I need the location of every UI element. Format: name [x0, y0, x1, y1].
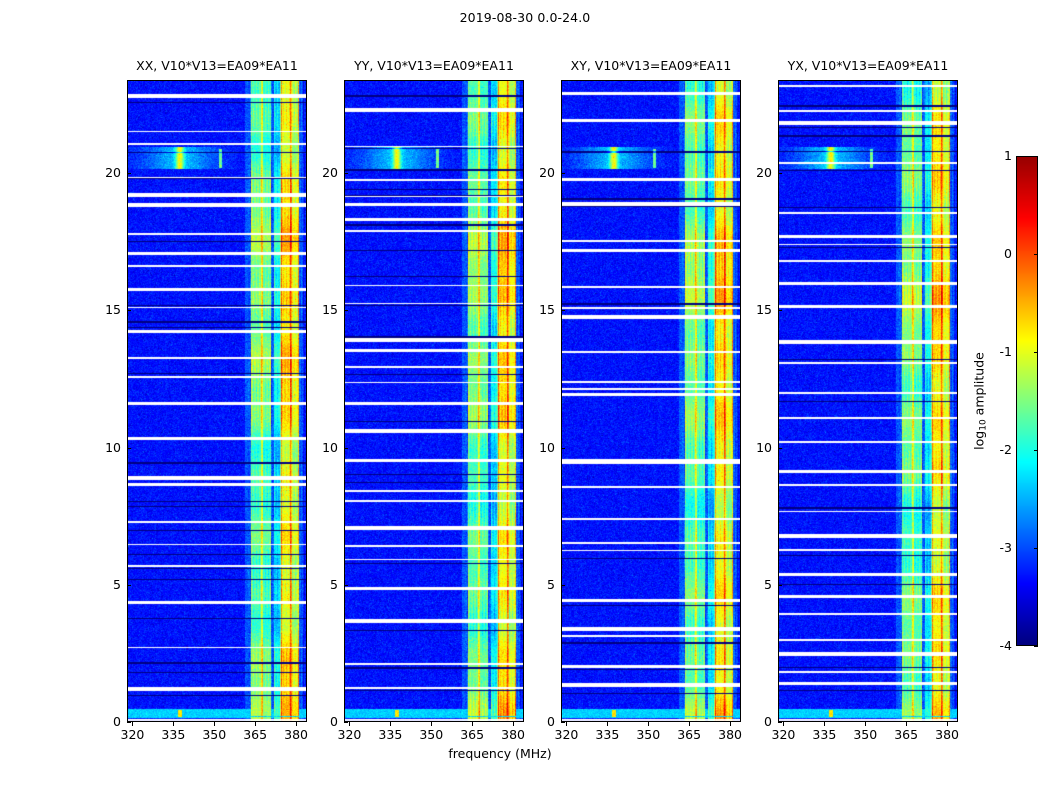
- colorbar-tick-mark: [1034, 450, 1038, 451]
- x-tick-mark: [648, 722, 649, 726]
- y-tick-mark: [561, 585, 565, 586]
- x-tick-mark: [783, 722, 784, 726]
- y-tick-label-10: 10: [87, 441, 121, 455]
- x-axis-label: frequency (MHz): [0, 746, 1000, 761]
- colorbar-tick-label-neg3: -3: [982, 541, 1012, 555]
- x-tick-label-335: 335: [584, 727, 630, 742]
- y-tick-mark: [561, 448, 565, 449]
- x-tick-mark: [607, 722, 608, 726]
- y-tick-label-5: 5: [87, 578, 121, 592]
- x-tick-mark: [824, 722, 825, 726]
- x-tick-label-380: 380: [707, 727, 753, 742]
- colorbar-tick-mark: [1034, 352, 1038, 353]
- y-tick-label-0: 0: [304, 715, 338, 729]
- y-tick-mark: [344, 722, 348, 723]
- x-tick-mark: [689, 722, 690, 726]
- y-tick-label-5: 5: [304, 578, 338, 592]
- waterfall-panel-yx[interactable]: [778, 80, 958, 722]
- x-tick-mark: [566, 722, 567, 726]
- y-tick-label-15: 15: [304, 303, 338, 317]
- x-tick-mark: [132, 722, 133, 726]
- colorbar-tick-mark: [1034, 254, 1038, 255]
- y-tick-mark: [344, 448, 348, 449]
- x-tick-mark: [173, 722, 174, 726]
- x-tick-label-320: 320: [109, 727, 155, 742]
- x-tick-mark: [349, 722, 350, 726]
- x-tick-label-380: 380: [490, 727, 536, 742]
- x-tick-label-335: 335: [150, 727, 196, 742]
- y-tick-mark: [561, 310, 565, 311]
- y-tick-mark: [127, 585, 131, 586]
- colorbar-label: log10 amplitude: [972, 352, 989, 450]
- y-tick-label-20: 20: [87, 166, 121, 180]
- y-tick-label-0: 0: [738, 715, 772, 729]
- x-tick-label-320: 320: [326, 727, 372, 742]
- x-tick-label-320: 320: [760, 727, 806, 742]
- x-tick-mark: [906, 722, 907, 726]
- y-tick-mark: [127, 310, 131, 311]
- colorbar-tick-mark: [1034, 646, 1038, 647]
- colorbar-tick-mark: [1034, 156, 1038, 157]
- x-tick-mark: [947, 722, 948, 726]
- x-tick-label-380: 380: [924, 727, 970, 742]
- y-tick-label-5: 5: [738, 578, 772, 592]
- x-tick-mark: [296, 722, 297, 726]
- y-tick-mark: [127, 722, 131, 723]
- y-tick-label-20: 20: [304, 166, 338, 180]
- x-tick-mark: [390, 722, 391, 726]
- y-tick-label-15: 15: [738, 303, 772, 317]
- y-tick-mark: [778, 722, 782, 723]
- colorbar-tick-label-neg4: -4: [982, 639, 1012, 653]
- x-tick-mark: [431, 722, 432, 726]
- x-tick-label-350: 350: [842, 727, 888, 742]
- x-tick-label-380: 380: [273, 727, 319, 742]
- x-tick-label-365: 365: [666, 727, 712, 742]
- colorbar-tick-label-0: 0: [982, 247, 1012, 261]
- colorbar-label-suffix: amplitude: [972, 352, 987, 419]
- colorbar-label-sub: 10: [979, 419, 989, 430]
- x-tick-mark: [472, 722, 473, 726]
- y-tick-mark: [127, 448, 131, 449]
- colorbar-tick-label-1: 1: [982, 149, 1012, 163]
- colorbar-tick-mark: [1034, 548, 1038, 549]
- y-tick-mark: [561, 173, 565, 174]
- y-tick-mark: [344, 585, 348, 586]
- x-tick-mark: [214, 722, 215, 726]
- x-tick-mark: [513, 722, 514, 726]
- y-tick-mark: [778, 310, 782, 311]
- x-tick-mark: [730, 722, 731, 726]
- y-tick-label-5: 5: [521, 578, 555, 592]
- x-tick-label-335: 335: [801, 727, 847, 742]
- y-tick-mark: [561, 722, 565, 723]
- x-tick-mark: [865, 722, 866, 726]
- y-tick-label-10: 10: [304, 441, 338, 455]
- figure-suptitle: 2019-08-30 0.0-24.0: [0, 10, 1050, 25]
- x-tick-label-365: 365: [883, 727, 929, 742]
- x-tick-label-335: 335: [367, 727, 413, 742]
- waterfall-panel-xx[interactable]: [127, 80, 307, 722]
- x-tick-label-350: 350: [191, 727, 237, 742]
- x-tick-mark: [255, 722, 256, 726]
- y-tick-mark: [778, 173, 782, 174]
- y-tick-label-0: 0: [521, 715, 555, 729]
- colorbar[interactable]: [1016, 156, 1038, 646]
- waterfall-panel-xy[interactable]: [561, 80, 741, 722]
- y-tick-label-20: 20: [521, 166, 555, 180]
- y-tick-label-10: 10: [521, 441, 555, 455]
- x-tick-label-365: 365: [232, 727, 278, 742]
- y-tick-label-0: 0: [87, 715, 121, 729]
- x-tick-label-320: 320: [543, 727, 589, 742]
- waterfall-panel-yy[interactable]: [344, 80, 524, 722]
- y-tick-label-10: 10: [738, 441, 772, 455]
- y-tick-mark: [127, 173, 131, 174]
- x-tick-label-350: 350: [408, 727, 454, 742]
- y-tick-mark: [778, 448, 782, 449]
- x-tick-label-350: 350: [625, 727, 671, 742]
- y-tick-mark: [344, 173, 348, 174]
- y-tick-mark: [778, 585, 782, 586]
- x-tick-label-365: 365: [449, 727, 495, 742]
- y-tick-label-20: 20: [738, 166, 772, 180]
- y-tick-label-15: 15: [521, 303, 555, 317]
- colorbar-label-prefix: log: [972, 431, 987, 450]
- y-tick-mark: [344, 310, 348, 311]
- panel-title-yx: YX, V10*V13=EA09*EA11: [738, 57, 998, 75]
- y-tick-label-15: 15: [87, 303, 121, 317]
